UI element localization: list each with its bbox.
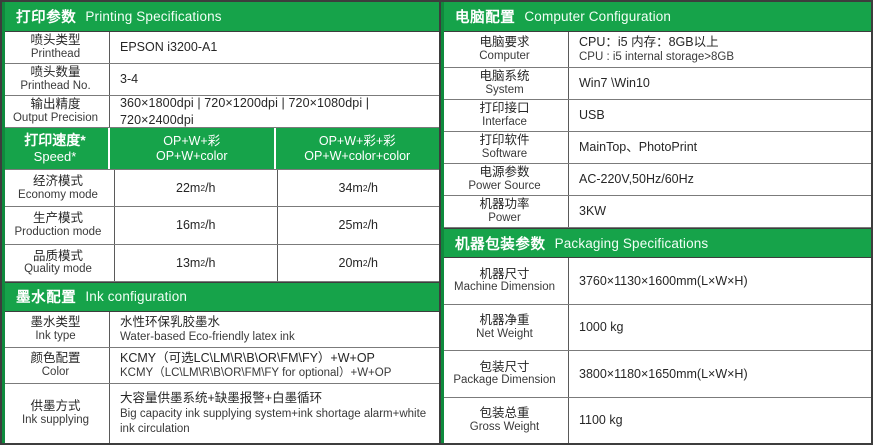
- table-row-software: 打印软件 Software MainTop、PhotoPrint: [441, 132, 871, 164]
- label-cn: 生产模式: [33, 211, 83, 226]
- label-cn: 机器尺寸: [479, 267, 529, 282]
- value-text: 360×1800dpi | 720×1200dpi | 720×1080dpi …: [120, 95, 439, 128]
- value-text: 3-4: [120, 71, 439, 87]
- table-row-printhead-no: 喷头数量 Printhead No. 3-4: [2, 64, 439, 96]
- value-unit: /h: [368, 218, 378, 232]
- value-text: 1100 kg: [579, 412, 871, 428]
- value-cn: 大容量供墨系统+缺墨报警+白墨循环: [120, 390, 439, 406]
- row-label-ink-type: 墨水类型 Ink type: [2, 312, 110, 347]
- section-title-cn: 机器包装参数: [455, 233, 546, 254]
- row-label-color: 颜色配置 Color: [2, 348, 110, 383]
- value-en: CPU : i5 internal storage>8GB: [579, 50, 871, 65]
- table-row-power: 机器功率 Power 3KW: [441, 196, 871, 228]
- label-en: Production mode: [15, 226, 102, 240]
- label-en: Economy mode: [18, 189, 98, 203]
- label-en: Output Precision: [13, 112, 98, 126]
- table-row-production-mode: 生产模式 Production mode 16m2/h 25m2/h: [2, 207, 439, 244]
- right-accent-stripe: [441, 2, 444, 443]
- label-en: Printhead: [31, 48, 80, 62]
- label-cn: 输出精度: [30, 97, 80, 112]
- value-text: MainTop、PhotoPrint: [579, 139, 871, 155]
- label-cn: 机器功率: [479, 197, 529, 212]
- table-row-economy-mode: 经济模式 Economy mode 22m2/h 34m2/h: [2, 170, 439, 207]
- table-row-color: 颜色配置 Color KCMY（可选LC\LM\R\B\OR\FM\FY）+W+…: [2, 348, 439, 384]
- label-cn: 机器净重: [479, 313, 529, 328]
- left-panel: 打印参数 Printing Specifications 喷头类型 Printh…: [0, 0, 440, 445]
- label-cn: 打印接口: [479, 101, 529, 116]
- table-row-computer: 电脑要求 Computer CPU：i5 内存：8GB以上 CPU : i5 i…: [441, 32, 871, 68]
- table-row-system: 电脑系统 System Win7 \Win10: [441, 68, 871, 100]
- label-en: Computer: [479, 50, 530, 64]
- row-value-output-precision: 360×1800dpi | 720×1200dpi | 720×1080dpi …: [110, 96, 439, 127]
- table-row-ink-supplying: 供墨方式 Ink supplying 大容量供墨系统+缺墨报警+白墨循环 Big…: [2, 384, 439, 443]
- value-en: Big capacity ink supplying system+ink sh…: [120, 407, 439, 437]
- speed-subheader-label: 打印速度* Speed*: [2, 128, 110, 169]
- row-value-gross-weight: 1100 kg: [569, 398, 871, 444]
- section-header-packaging: 机器包装参数 Packaging Specifications: [441, 228, 871, 258]
- label-en: Quality mode: [24, 263, 92, 277]
- label-en: Package Dimension: [453, 374, 555, 388]
- row-label-package-dimension: 包装尺寸 Package Dimension: [441, 351, 569, 397]
- row-label-output-precision: 输出精度 Output Precision: [2, 96, 110, 127]
- table-row-output-precision: 输出精度 Output Precision 360×1800dpi | 720×…: [2, 96, 439, 128]
- value-number: 13m: [176, 256, 200, 270]
- right-panel: 电脑配置 Computer Configuration 电脑要求 Compute…: [440, 0, 873, 445]
- row-value-software: MainTop、PhotoPrint: [569, 132, 871, 163]
- table-row-net-weight: 机器净重 Net Weight 1000 kg: [441, 305, 871, 352]
- row-label-interface: 打印接口 Interface: [441, 100, 569, 131]
- label-en: Machine Dimension: [454, 281, 555, 295]
- value-text: EPSON i3200-A1: [120, 39, 439, 55]
- row-value-color: KCMY（可选LC\LM\R\B\OR\FM\FY）+W+OP KCMY（LC\…: [110, 348, 439, 383]
- row-value-power-source: AC-220V,50Hz/60Hz: [569, 164, 871, 195]
- table-row-gross-weight: 包装总重 Gross Weight 1100 kg: [441, 398, 871, 444]
- row-label-power: 机器功率 Power: [441, 196, 569, 227]
- value-cn: 水性环保乳胶墨水: [120, 314, 439, 330]
- label-cn: 供墨方式: [30, 399, 80, 414]
- left-accent-stripe: [2, 2, 5, 443]
- speed-subheader: 打印速度* Speed* OP+W+彩 OP+W+color OP+W+彩+彩 …: [2, 128, 439, 170]
- row-label-gross-weight: 包装总重 Gross Weight: [441, 398, 569, 444]
- column-en: OP+W+color: [156, 149, 228, 164]
- label-cn: 喷头数量: [30, 65, 80, 80]
- speed-value-quality-col2: 20m2/h: [278, 245, 440, 281]
- table-row-interface: 打印接口 Interface USB: [441, 100, 871, 132]
- row-label-computer: 电脑要求 Computer: [441, 32, 569, 67]
- value-cn: CPU：i5 内存：8GB以上: [579, 34, 871, 50]
- column-cn: OP+W+彩+彩: [319, 134, 396, 149]
- label-cn: 品质模式: [33, 249, 83, 264]
- label-en: Speed*: [34, 149, 77, 165]
- label-cn: 包装总重: [479, 406, 529, 421]
- label-cn: 打印软件: [479, 133, 529, 148]
- label-en: Gross Weight: [470, 421, 539, 435]
- section-header-ink: 墨水配置 Ink configuration: [2, 282, 439, 312]
- label-en: Color: [42, 366, 69, 380]
- label-en: Ink supplying: [22, 414, 89, 428]
- label-cn: 颜色配置: [30, 351, 80, 366]
- label-en: Software: [482, 148, 527, 162]
- label-cn: 电脑要求: [479, 35, 529, 50]
- row-value-printhead-no: 3-4: [110, 64, 439, 95]
- label-cn: 经济模式: [33, 174, 83, 189]
- row-value-ink-type: 水性环保乳胶墨水 Water-based Eco-friendly latex …: [110, 312, 439, 347]
- table-row-machine-dimension: 机器尺寸 Machine Dimension 3760×1130×1600mm(…: [441, 258, 871, 305]
- value-text: USB: [579, 107, 871, 123]
- row-label-printhead: 喷头类型 Printhead: [2, 32, 110, 63]
- label-en: Power Source: [468, 180, 540, 194]
- value-number: 20m: [339, 256, 363, 270]
- row-label-quality-mode: 品质模式 Quality mode: [2, 245, 115, 281]
- label-en: Ink type: [35, 330, 75, 344]
- section-title-en: Ink configuration: [85, 289, 187, 304]
- value-text: 3KW: [579, 203, 871, 219]
- row-label-economy-mode: 经济模式 Economy mode: [2, 170, 115, 206]
- spec-sheet: 打印参数 Printing Specifications 喷头类型 Printh…: [0, 0, 873, 445]
- value-cn: KCMY（可选LC\LM\R\B\OR\FM\FY）+W+OP: [120, 350, 439, 366]
- row-value-ink-supplying: 大容量供墨系统+缺墨报警+白墨循环 Big capacity ink suppl…: [110, 384, 439, 443]
- row-value-machine-dimension: 3760×1130×1600mm(L×W×H): [569, 258, 871, 304]
- value-text: Win7 \Win10: [579, 75, 871, 91]
- value-unit: /h: [368, 256, 378, 270]
- label-en: System: [485, 84, 523, 98]
- row-value-computer: CPU：i5 内存：8GB以上 CPU : i5 internal storag…: [569, 32, 871, 67]
- value-text: 1000 kg: [579, 319, 871, 335]
- speed-value-economy-col2: 34m2/h: [278, 170, 440, 206]
- section-title-cn: 打印参数: [16, 6, 76, 27]
- value-en: Water-based Eco-friendly latex ink: [120, 330, 439, 345]
- speed-column-header-1: OP+W+彩 OP+W+color: [110, 128, 276, 169]
- row-label-software: 打印软件 Software: [441, 132, 569, 163]
- row-label-system: 电脑系统 System: [441, 68, 569, 99]
- label-en: Printhead No.: [20, 80, 90, 94]
- speed-value-production-col2: 25m2/h: [278, 207, 440, 243]
- row-label-printhead-no: 喷头数量 Printhead No.: [2, 64, 110, 95]
- row-label-power-source: 电源参数 Power Source: [441, 164, 569, 195]
- table-row-quality-mode: 品质模式 Quality mode 13m2/h 20m2/h: [2, 245, 439, 282]
- section-title-cn: 墨水配置: [16, 286, 76, 307]
- label-en: Interface: [482, 116, 527, 130]
- value-text: 3800×1180×1650mm(L×W×H): [579, 366, 871, 382]
- value-number: 22m: [176, 181, 200, 195]
- value-en: KCMY（LC\LM\R\B\OR\FM\FY for optional）+W+…: [120, 366, 439, 381]
- label-en: Power: [488, 212, 521, 226]
- value-unit: /h: [205, 218, 215, 232]
- speed-value-production-col1: 16m2/h: [115, 207, 278, 243]
- row-value-system: Win7 \Win10: [569, 68, 871, 99]
- value-unit: /h: [368, 181, 378, 195]
- value-text: 3760×1130×1600mm(L×W×H): [579, 273, 871, 289]
- row-label-production-mode: 生产模式 Production mode: [2, 207, 115, 243]
- section-title-cn: 电脑配置: [455, 6, 515, 27]
- row-value-printhead: EPSON i3200-A1: [110, 32, 439, 63]
- row-label-machine-dimension: 机器尺寸 Machine Dimension: [441, 258, 569, 304]
- row-value-package-dimension: 3800×1180×1650mm(L×W×H): [569, 351, 871, 397]
- label-cn: 包装尺寸: [479, 360, 529, 375]
- label-cn: 喷头类型: [30, 33, 80, 48]
- speed-column-header-2: OP+W+彩+彩 OP+W+color+color: [276, 128, 440, 169]
- row-value-power: 3KW: [569, 196, 871, 227]
- section-title-en: Printing Specifications: [85, 9, 221, 24]
- speed-value-economy-col1: 22m2/h: [115, 170, 278, 206]
- table-row-package-dimension: 包装尺寸 Package Dimension 3800×1180×1650mm(…: [441, 351, 871, 398]
- section-title-en: Packaging Specifications: [555, 236, 709, 251]
- value-unit: /h: [205, 256, 215, 270]
- row-value-net-weight: 1000 kg: [569, 305, 871, 351]
- section-header-computer: 电脑配置 Computer Configuration: [441, 2, 871, 32]
- table-row-ink-type: 墨水类型 Ink type 水性环保乳胶墨水 Water-based Eco-f…: [2, 312, 439, 348]
- value-text: AC-220V,50Hz/60Hz: [579, 171, 871, 187]
- label-en: Net Weight: [476, 328, 533, 342]
- value-number: 16m: [176, 218, 200, 232]
- speed-value-quality-col1: 13m2/h: [115, 245, 278, 281]
- label-cn: 电脑系统: [479, 69, 529, 84]
- value-number: 34m: [339, 181, 363, 195]
- section-header-printing: 打印参数 Printing Specifications: [2, 2, 439, 32]
- value-number: 25m: [339, 218, 363, 232]
- table-row-printhead: 喷头类型 Printhead EPSON i3200-A1: [2, 32, 439, 64]
- table-row-power-source: 电源参数 Power Source AC-220V,50Hz/60Hz: [441, 164, 871, 196]
- row-value-interface: USB: [569, 100, 871, 131]
- row-label-net-weight: 机器净重 Net Weight: [441, 305, 569, 351]
- label-cn: 电源参数: [479, 165, 529, 180]
- row-label-ink-supplying: 供墨方式 Ink supplying: [2, 384, 110, 443]
- column-en: OP+W+color+color: [304, 149, 410, 164]
- section-title-en: Computer Configuration: [524, 9, 671, 24]
- column-cn: OP+W+彩: [163, 134, 220, 149]
- value-unit: /h: [205, 181, 215, 195]
- label-cn: 打印速度*: [24, 132, 85, 149]
- label-cn: 墨水类型: [30, 315, 80, 330]
